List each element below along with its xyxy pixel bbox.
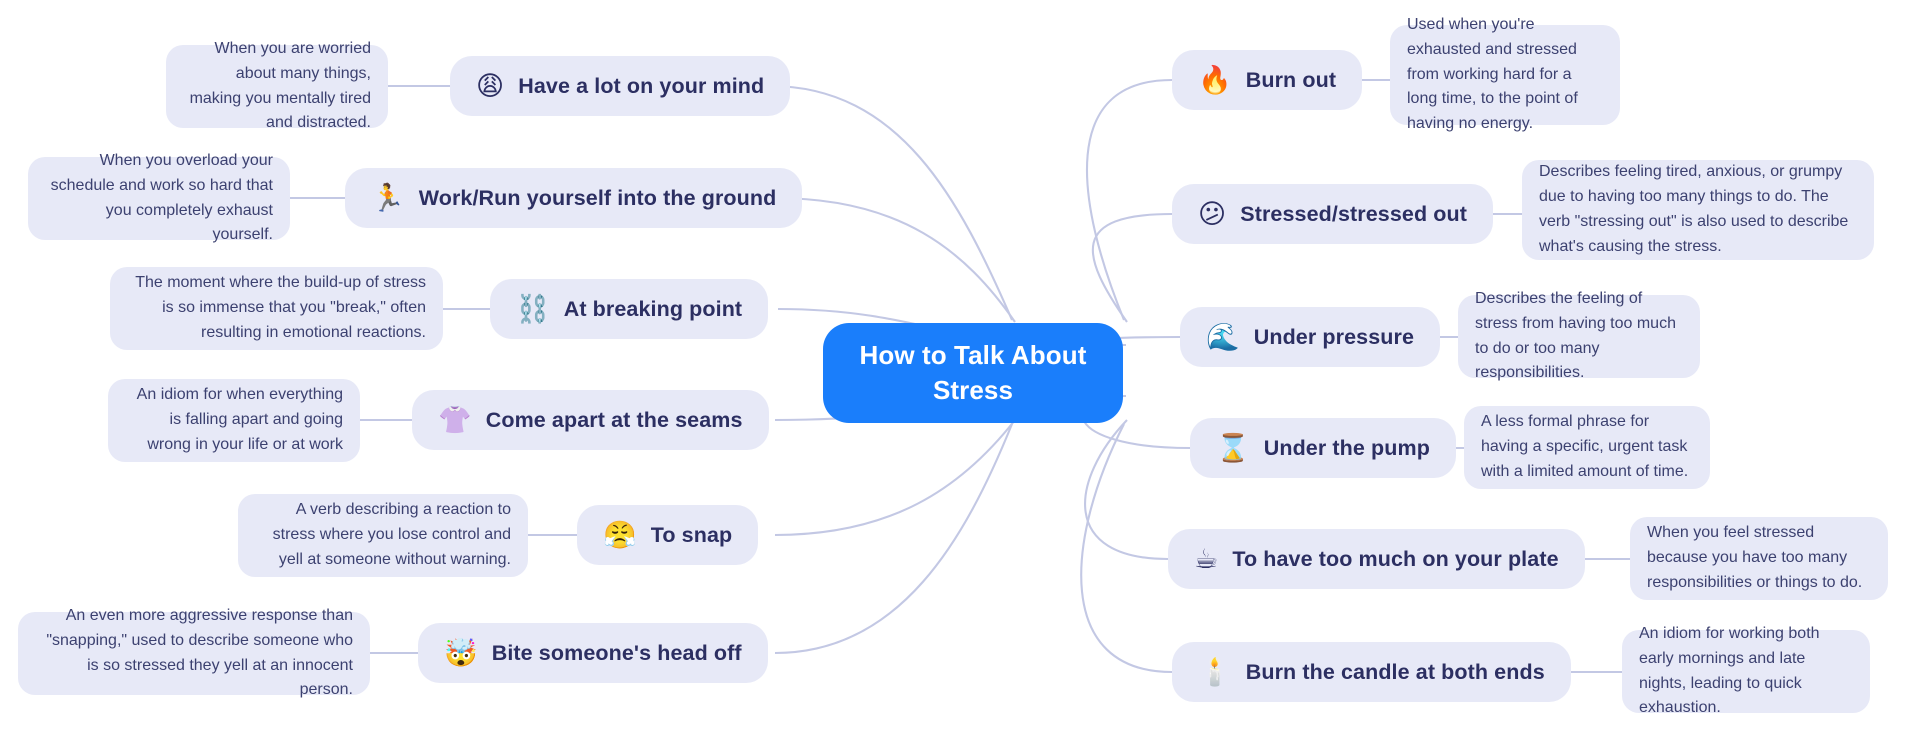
topic-label: Work/Run yourself into the ground	[419, 186, 777, 211]
topic-label: Stressed/stressed out	[1240, 202, 1467, 227]
description-to-snap: A verb describing a reaction to stress w…	[238, 494, 528, 577]
description-burn-the-candle-at-both-ends: An idiom for working both early mornings…	[1622, 630, 1870, 713]
weary-face-icon: 😩	[476, 73, 504, 100]
topic-label: Under pressure	[1254, 325, 1414, 350]
connector-center-right-5	[1085, 420, 1168, 559]
description-at-breaking-point: The moment where the build-up of stress …	[110, 267, 443, 350]
topic-label: Have a lot on your mind	[518, 74, 764, 99]
connector-center-left-2	[775, 198, 1015, 322]
description-to-have-too-much-on-your-plate: When you feel stressed because you have …	[1630, 517, 1888, 600]
topic-under-the-pump[interactable]: ⌛ Under the pump	[1190, 418, 1456, 478]
water-wave-icon: 🌊	[1206, 324, 1240, 351]
description-burn-out: Used when you're exhausted and stressed …	[1390, 25, 1620, 125]
connector-center-left-6	[775, 424, 1012, 653]
topic-to-have-too-much-on-your-plate[interactable]: ☕ To have too much on your plate	[1168, 529, 1585, 589]
confused-face-icon: 😕	[1198, 201, 1226, 228]
exploding-head-icon: 🤯	[444, 640, 478, 667]
connector-center-left-1	[770, 86, 1012, 320]
campfire-icon: 🔥	[1198, 67, 1232, 94]
central-node[interactable]: How to Talk About Stress	[823, 323, 1123, 423]
topic-stressed-stressed-out[interactable]: 😕 Stressed/stressed out	[1172, 184, 1493, 244]
topic-burn-the-candle-at-both-ends[interactable]: 🕯️ Burn the candle at both ends	[1172, 642, 1571, 702]
connector-center-right-1	[1087, 80, 1172, 320]
mind-map-canvas: How to Talk About Stress 😩 Have a lot on…	[0, 0, 1920, 743]
topic-work-run-yourself-into-the-ground[interactable]: 🏃 Work/Run yourself into the ground	[345, 168, 802, 228]
connector-center-right-2	[1093, 214, 1172, 322]
hot-beverage-icon: ☕	[1194, 546, 1218, 573]
topic-at-breaking-point[interactable]: ⛓️ At breaking point	[490, 279, 768, 339]
description-bite-someones-head-off: An even more aggressive response than "s…	[18, 612, 370, 695]
topic-label: Come apart at the seams	[486, 408, 743, 433]
description-under-pressure: Describes the feeling of stress from hav…	[1458, 295, 1700, 378]
topic-label: To snap	[651, 523, 733, 548]
broken-chain-icon: ⛓️	[516, 296, 550, 323]
topic-label: Under the pump	[1264, 436, 1430, 461]
topic-label: Bite someone's head off	[492, 641, 742, 666]
topic-to-snap[interactable]: 😤 To snap	[577, 505, 758, 565]
person-running-icon: 🏃	[371, 185, 405, 212]
description-have-a-lot-on-your-mind: When you are worried about many things, …	[166, 45, 388, 128]
candle-icon: 🕯️	[1198, 659, 1232, 686]
topic-label: Burn out	[1246, 68, 1336, 93]
description-come-apart-at-the-seams: An idiom for when everything is falling …	[108, 379, 360, 462]
connector-center-left-5	[775, 420, 1015, 535]
topic-have-a-lot-on-your-mind[interactable]: 😩 Have a lot on your mind	[450, 56, 790, 116]
topic-come-apart-at-the-seams[interactable]: 👚 Come apart at the seams	[412, 390, 769, 450]
topic-burn-out[interactable]: 🔥 Burn out	[1172, 50, 1362, 110]
face-with-steam-from-nose-icon: 😤	[603, 522, 637, 549]
description-under-the-pump: A less formal phrase for having a specif…	[1464, 406, 1710, 489]
topic-label: To have too much on your plate	[1232, 547, 1558, 572]
topic-label: Burn the candle at both ends	[1246, 660, 1545, 685]
topic-bite-someones-head-off[interactable]: 🤯 Bite someone's head off	[418, 623, 768, 683]
description-stressed-stressed-out: Describes feeling tired, anxious, or gru…	[1522, 160, 1874, 260]
t-shirt-icon: 👚	[438, 407, 472, 434]
central-node-title: How to Talk About Stress	[843, 338, 1103, 408]
topic-under-pressure[interactable]: 🌊 Under pressure	[1180, 307, 1440, 367]
connector-center-right-6	[1081, 424, 1172, 672]
description-work-run-yourself-into-the-ground: When you overload your schedule and work…	[28, 157, 290, 240]
hourglass-icon: ⌛	[1216, 435, 1250, 462]
topic-label: At breaking point	[564, 297, 742, 322]
